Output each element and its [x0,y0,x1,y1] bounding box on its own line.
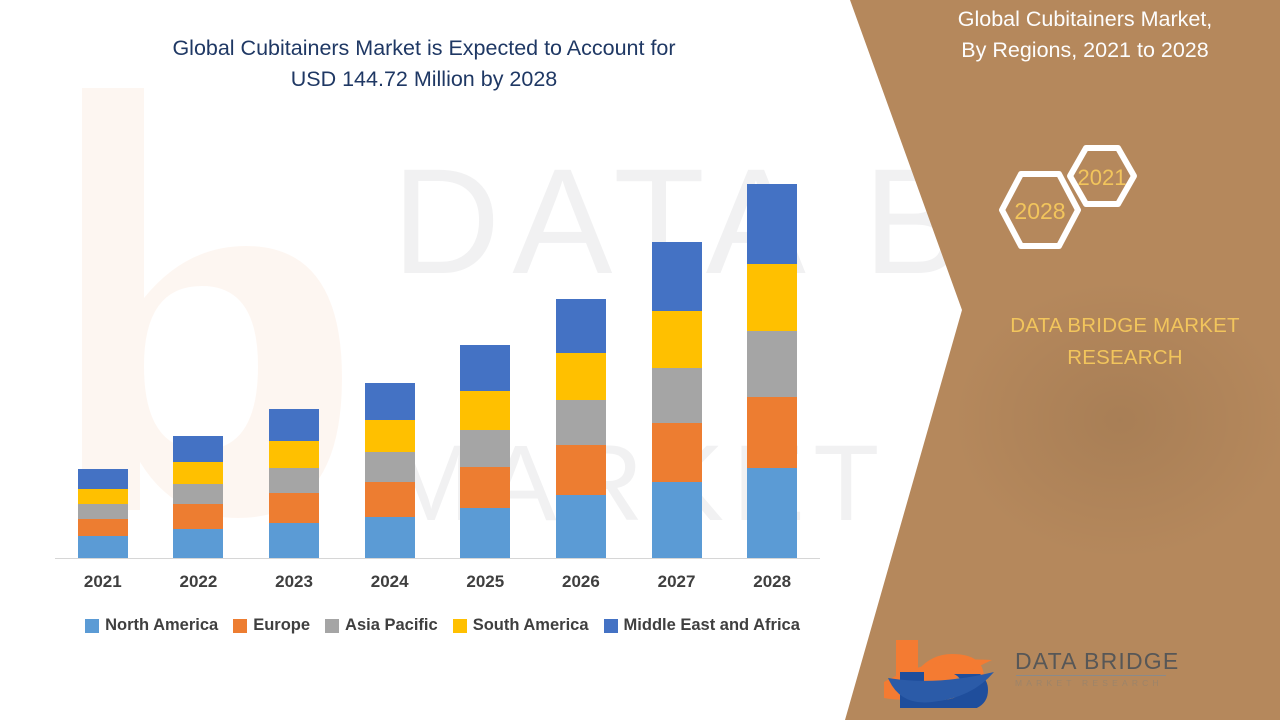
bar-segment[interactable] [269,409,319,441]
bar-column [342,140,437,558]
stacked-bar[interactable] [269,409,319,558]
hexagon-badges: 2028 2021 [975,140,1175,280]
legend-item[interactable]: Asia Pacific [325,616,438,635]
bar-segment[interactable] [556,299,606,354]
bar-segment[interactable] [78,519,128,536]
bar-segment[interactable] [365,383,415,421]
hexagon-badge-2028-label: 2028 [1014,198,1065,224]
stacked-bar[interactable] [365,383,415,558]
bar-column [629,140,724,558]
x-axis-tick-label: 2028 [725,572,820,592]
panel-brand-line-1: DATA BRIDGE MARKET [950,310,1280,342]
bar-segment[interactable] [556,353,606,399]
bar-segment[interactable] [652,482,702,558]
slide-root: DATA BRIDGE MARKET RESEARCH Global Cubit… [0,0,1280,720]
stacked-bar[interactable] [747,184,797,558]
hexagon-badge-2021-label: 2021 [1078,165,1127,190]
bar-segment[interactable] [173,529,223,558]
legend-item[interactable]: South America [453,616,589,635]
legend-item[interactable]: North America [85,616,218,635]
bar-segment[interactable] [460,430,510,467]
bar-column [725,140,820,558]
x-axis-tick-label: 2027 [629,572,724,592]
bar-column [438,140,533,558]
stacked-bar[interactable] [173,436,223,558]
bar-segment[interactable] [652,242,702,310]
legend-label: South America [473,616,589,635]
stacked-bar[interactable] [556,299,606,558]
bar-segment[interactable] [747,468,797,558]
bar-segment[interactable] [460,467,510,508]
bar-segment[interactable] [556,445,606,495]
legend-color-swatch [604,619,618,633]
bar-segment[interactable] [460,391,510,430]
legend-color-swatch [233,619,247,633]
bar-segment[interactable] [460,345,510,391]
x-axis-tick-label: 2026 [533,572,628,592]
hexagon-badge-2028: 2028 [1002,174,1078,246]
bar-segment[interactable] [173,462,223,484]
bar-segment[interactable] [652,423,702,483]
bar-segment[interactable] [269,441,319,468]
legend-item[interactable]: Middle East and Africa [604,616,800,635]
hexagon-badge-2021: 2021 [1070,148,1134,204]
bar-column [151,140,246,558]
x-axis-tick-label: 2022 [151,572,246,592]
chart-legend: North AmericaEuropeAsia PacificSouth Ame… [55,616,830,635]
legend-label: Asia Pacific [345,616,438,635]
x-axis-labels: 20212022202320242025202620272028 [55,572,820,592]
bar-segment[interactable] [365,420,415,452]
logo-main-text: DATA BRIDGE [1015,648,1179,674]
x-axis-tick-label: 2024 [342,572,437,592]
x-axis-tick-label: 2023 [247,572,342,592]
bar-segment[interactable] [78,489,128,505]
bar-segment[interactable] [365,452,415,482]
bar-segment[interactable] [78,504,128,519]
logo-text-block: DATA BRIDGE MARKET RESEARCH [1015,648,1179,689]
legend-label: Middle East and Africa [624,616,800,635]
legend-color-swatch [453,619,467,633]
panel-brand-line-2: RESEARCH [950,342,1280,374]
logo-divider [1016,675,1166,676]
x-axis-tick-label: 2025 [438,572,533,592]
bar-segment[interactable] [365,482,415,516]
panel-title-line-1: Global Cubitainers Market, [905,4,1265,35]
panel-brand-text: DATA BRIDGE MARKET RESEARCH [950,310,1280,374]
bar-segment[interactable] [556,495,606,558]
bar-segment[interactable] [747,184,797,264]
bar-segment[interactable] [652,368,702,423]
x-axis-tick-label: 2021 [55,572,150,592]
bar-segment[interactable] [365,517,415,558]
stacked-bar[interactable] [460,345,510,558]
bar-segment[interactable] [173,484,223,505]
logo-sub-text: MARKET RESEARCH [1015,678,1179,689]
legend-label: North America [105,616,218,635]
bar-segment[interactable] [269,523,319,558]
bar-chart-plot-area [55,140,820,558]
bar-column [533,140,628,558]
chart-title-line-1: Global Cubitainers Market is Expected to… [60,33,788,64]
stacked-bar[interactable] [652,242,702,558]
x-axis-line [55,558,820,559]
bar-segment[interactable] [556,400,606,445]
bar-segment[interactable] [173,504,223,528]
bar-segment[interactable] [747,331,797,397]
bar-segment[interactable] [747,264,797,331]
bar-column [247,140,342,558]
bar-segment[interactable] [460,508,510,558]
legend-label: Europe [253,616,310,635]
chart-title-line-2: USD 144.72 Million by 2028 [60,64,788,95]
legend-item[interactable]: Europe [233,616,310,635]
bar-segment[interactable] [652,311,702,368]
chart-title: Global Cubitainers Market is Expected to… [60,33,788,95]
bar-segment[interactable] [173,436,223,462]
bar-segment[interactable] [269,493,319,522]
hexagon-badges-svg: 2028 2021 [975,140,1175,280]
bar-segment[interactable] [269,468,319,494]
stacked-bar[interactable] [78,469,128,558]
bar-segment[interactable] [78,536,128,558]
bar-segment[interactable] [747,397,797,468]
legend-color-swatch [85,619,99,633]
bar-column [55,140,150,558]
legend-color-swatch [325,619,339,633]
panel-title-line-2: By Regions, 2021 to 2028 [905,35,1265,66]
panel-title: Global Cubitainers Market, By Regions, 2… [905,4,1265,66]
bar-segment[interactable] [78,469,128,488]
